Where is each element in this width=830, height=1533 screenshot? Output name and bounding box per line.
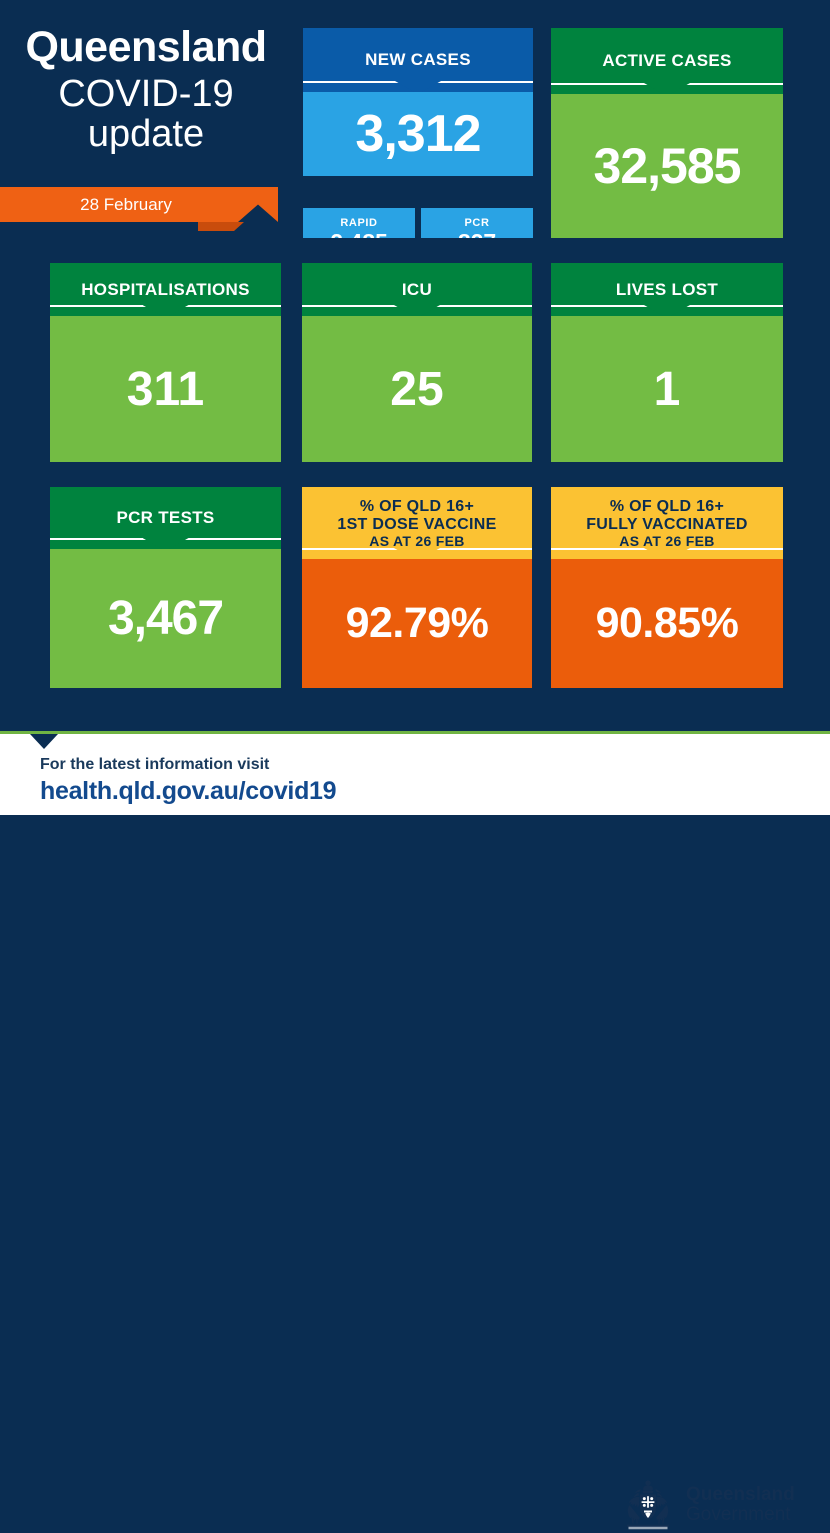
card-fully-vaccinated: % OF QLD 16+ FULLY VACCINATED AS AT 26 F…	[551, 487, 783, 688]
page-title-update: update	[0, 115, 292, 153]
card-lives-lost-label: LIVES LOST	[616, 280, 718, 299]
footer-divider-rule	[0, 731, 830, 734]
card-lives-lost-header: LIVES LOST	[551, 263, 783, 316]
card-pcr-tests-label: PCR TESTS	[116, 508, 214, 527]
gov-wordmark-line1: Queensland	[686, 1485, 795, 1505]
footer: For the latest information visit health.…	[0, 731, 830, 815]
card-new-cases-header: NEW CASES	[303, 28, 533, 92]
card-new-cases: NEW CASES 3,312 RAPID 2,485 PCR 827	[303, 28, 533, 238]
card-fully-vaccinated-label-line1: % OF QLD 16+	[586, 498, 748, 516]
card-first-dose-label-line1: % OF QLD 16+	[337, 498, 496, 516]
card-active-cases-value: 32,585	[551, 94, 783, 238]
card-hospitalisations-header: HOSPITALISATIONS	[50, 263, 281, 316]
new-cases-breakdown: RAPID 2,485 PCR 827	[303, 208, 533, 238]
card-icu-label: ICU	[402, 280, 432, 299]
card-first-dose-vaccine: % OF QLD 16+ 1ST DOSE VACCINE AS AT 26 F…	[302, 487, 532, 688]
card-hospitalisations: HOSPITALISATIONS 311	[50, 263, 281, 462]
gov-wordmark: Queensland Government	[686, 1485, 795, 1525]
card-new-cases-label: NEW CASES	[365, 50, 471, 69]
card-first-dose-header: % OF QLD 16+ 1ST DOSE VACCINE AS AT 26 F…	[302, 487, 532, 559]
footer-url-link[interactable]: health.qld.gov.au/covid19	[40, 776, 336, 806]
page-title-covid19: COVID-19	[0, 75, 292, 113]
breakdown-rapid: RAPID 2,485	[303, 208, 415, 238]
breakdown-rapid-label: RAPID	[340, 218, 377, 229]
breakdown-rapid-value: 2,485	[330, 230, 388, 238]
card-pcr-tests: PCR TESTS 3,467	[50, 487, 281, 688]
card-active-cases: ACTIVE CASES 32,585	[551, 28, 783, 238]
card-first-dose-value: 92.79%	[302, 559, 532, 688]
card-new-cases-value: 3,312	[303, 92, 533, 176]
card-pcr-tests-header: PCR TESTS	[50, 487, 281, 549]
coat-of-arms-icon	[618, 1478, 678, 1532]
infographic-canvas: Queensland COVID-19 update 28 February N…	[0, 0, 830, 815]
footer-prompt: For the latest information visit	[40, 755, 336, 774]
queensland-government-logo: Queensland Government	[618, 1477, 808, 1533]
card-active-cases-label: ACTIVE CASES	[602, 51, 731, 70]
card-fully-vaccinated-label-line2: FULLY VACCINATED	[586, 516, 748, 534]
card-icu: ICU 25	[302, 263, 532, 462]
title-block: Queensland COVID-19 update	[0, 22, 292, 197]
breakdown-pcr-label: PCR	[464, 218, 489, 229]
card-fully-vaccinated-header: % OF QLD 16+ FULLY VACCINATED AS AT 26 F…	[551, 487, 783, 559]
report-date: 28 February	[0, 187, 252, 222]
card-fully-vaccinated-value: 90.85%	[551, 559, 783, 688]
card-first-dose-label-line3: AS AT 26 FEB	[337, 534, 496, 550]
card-lives-lost: LIVES LOST 1	[551, 263, 783, 462]
breakdown-pcr-value: 827	[458, 230, 496, 238]
card-pcr-tests-value: 3,467	[50, 549, 281, 688]
card-icu-value: 25	[302, 316, 532, 462]
chevron-down-icon	[30, 734, 58, 749]
card-first-dose-label-line2: 1ST DOSE VACCINE	[337, 516, 496, 534]
card-lives-lost-value: 1	[551, 316, 783, 462]
gov-wordmark-line2: Government	[686, 1505, 795, 1525]
page-title-queensland: Queensland	[0, 26, 292, 69]
card-icu-header: ICU	[302, 263, 532, 316]
card-fully-vaccinated-label-line3: AS AT 26 FEB	[586, 534, 748, 550]
date-ribbon: 28 February	[0, 187, 292, 229]
card-active-cases-header: ACTIVE CASES	[551, 28, 783, 94]
ribbon-fold-shape	[198, 222, 244, 231]
footer-info: For the latest information visit health.…	[40, 755, 336, 806]
card-hospitalisations-value: 311	[50, 316, 281, 462]
card-hospitalisations-label: HOSPITALISATIONS	[81, 280, 250, 299]
breakdown-pcr: PCR 827	[421, 208, 533, 238]
